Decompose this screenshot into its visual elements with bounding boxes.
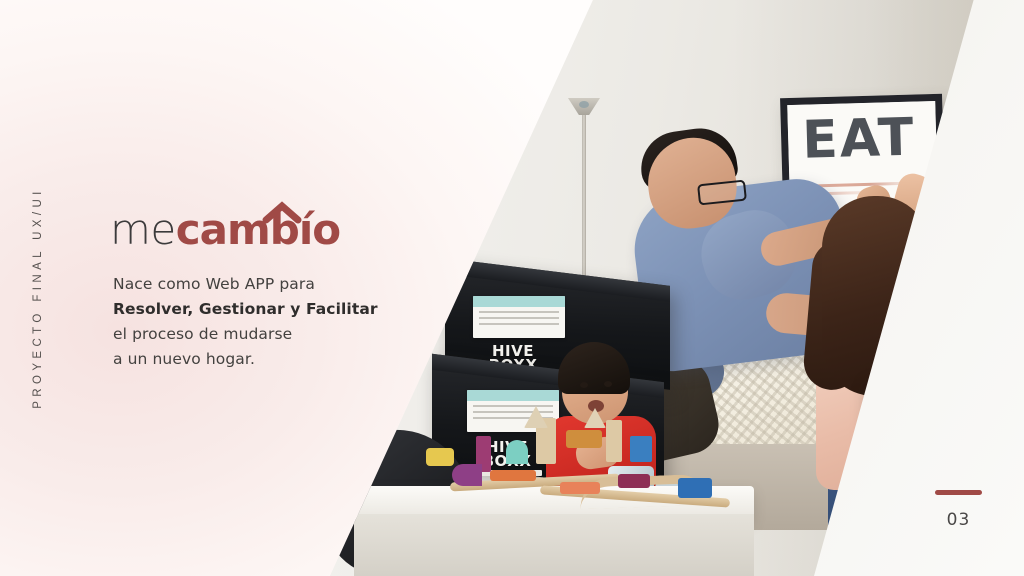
toy-block <box>630 436 652 462</box>
logo-cambio-text: cambío <box>176 205 340 254</box>
crate-label <box>473 296 565 338</box>
toy-block <box>490 470 536 481</box>
floor-lamp-bulb <box>579 101 589 108</box>
copy-line-4: a un nuevo hogar. <box>113 347 413 372</box>
crate-label-band <box>467 390 559 401</box>
crate-label-line <box>479 323 559 325</box>
page-number-rule <box>935 490 982 495</box>
copy-line-3: el proceso de mudarse <box>113 322 413 347</box>
body-copy: Nace como Web APP para Resolver, Gestion… <box>113 272 413 372</box>
toy-block <box>606 420 622 462</box>
toy-table-body <box>354 514 754 576</box>
vertical-side-label: PROYECTO FINAL UX/UI <box>32 148 44 448</box>
copy-line-1: Nace como Web APP para <box>113 272 413 297</box>
toy-block <box>566 430 602 448</box>
toy-block <box>452 464 482 486</box>
logo: mecambío <box>110 205 340 254</box>
child-eye <box>580 382 588 388</box>
toy-block <box>678 478 712 498</box>
crate-label-line <box>473 411 553 413</box>
crate-label-line <box>479 317 559 319</box>
crate-label-line <box>473 405 553 407</box>
crate-label-line <box>479 311 559 313</box>
crate-label-band <box>473 296 565 307</box>
slide-root: EAT <box>0 0 1024 576</box>
toy-block <box>560 482 600 494</box>
house-roof-icon <box>262 201 302 225</box>
poster-headline: EAT <box>802 112 917 167</box>
page-number: 03 <box>935 510 982 530</box>
copy-line-2: Resolver, Gestionar y Facilitar <box>113 297 413 322</box>
toy-block <box>426 448 454 466</box>
logo-me-text: me <box>110 205 176 254</box>
child-eye <box>604 381 612 387</box>
toy-block <box>506 440 528 464</box>
toy-block <box>618 474 650 488</box>
